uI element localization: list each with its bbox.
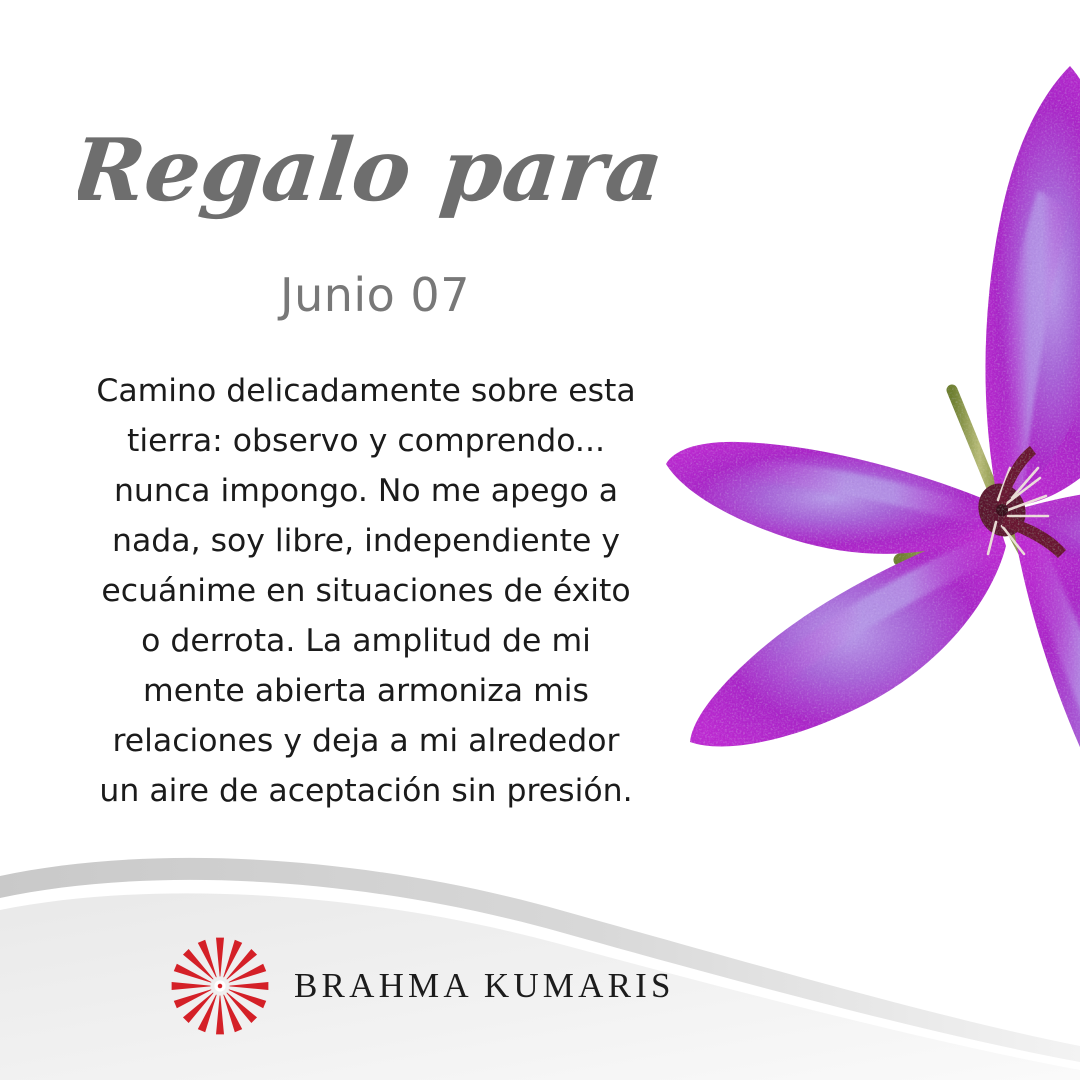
page-title-text: Regalo para elAlma — [78, 119, 678, 221]
social-media-card: Regalo para elAlma Junio 07 Camino delic… — [0, 0, 1080, 1080]
brand-name: BRAHMA KUMARIS — [294, 966, 675, 1006]
quote-body-text: Camino delicadamente sobre esta tierra: … — [92, 366, 640, 816]
sunburst-center-dot — [218, 984, 223, 989]
brand-logo: BRAHMA KUMARIS — [168, 934, 675, 1038]
sunburst-icon — [168, 934, 272, 1038]
date-label: Junio 07 — [60, 268, 690, 322]
page-title: Regalo para elAlma — [78, 116, 678, 226]
